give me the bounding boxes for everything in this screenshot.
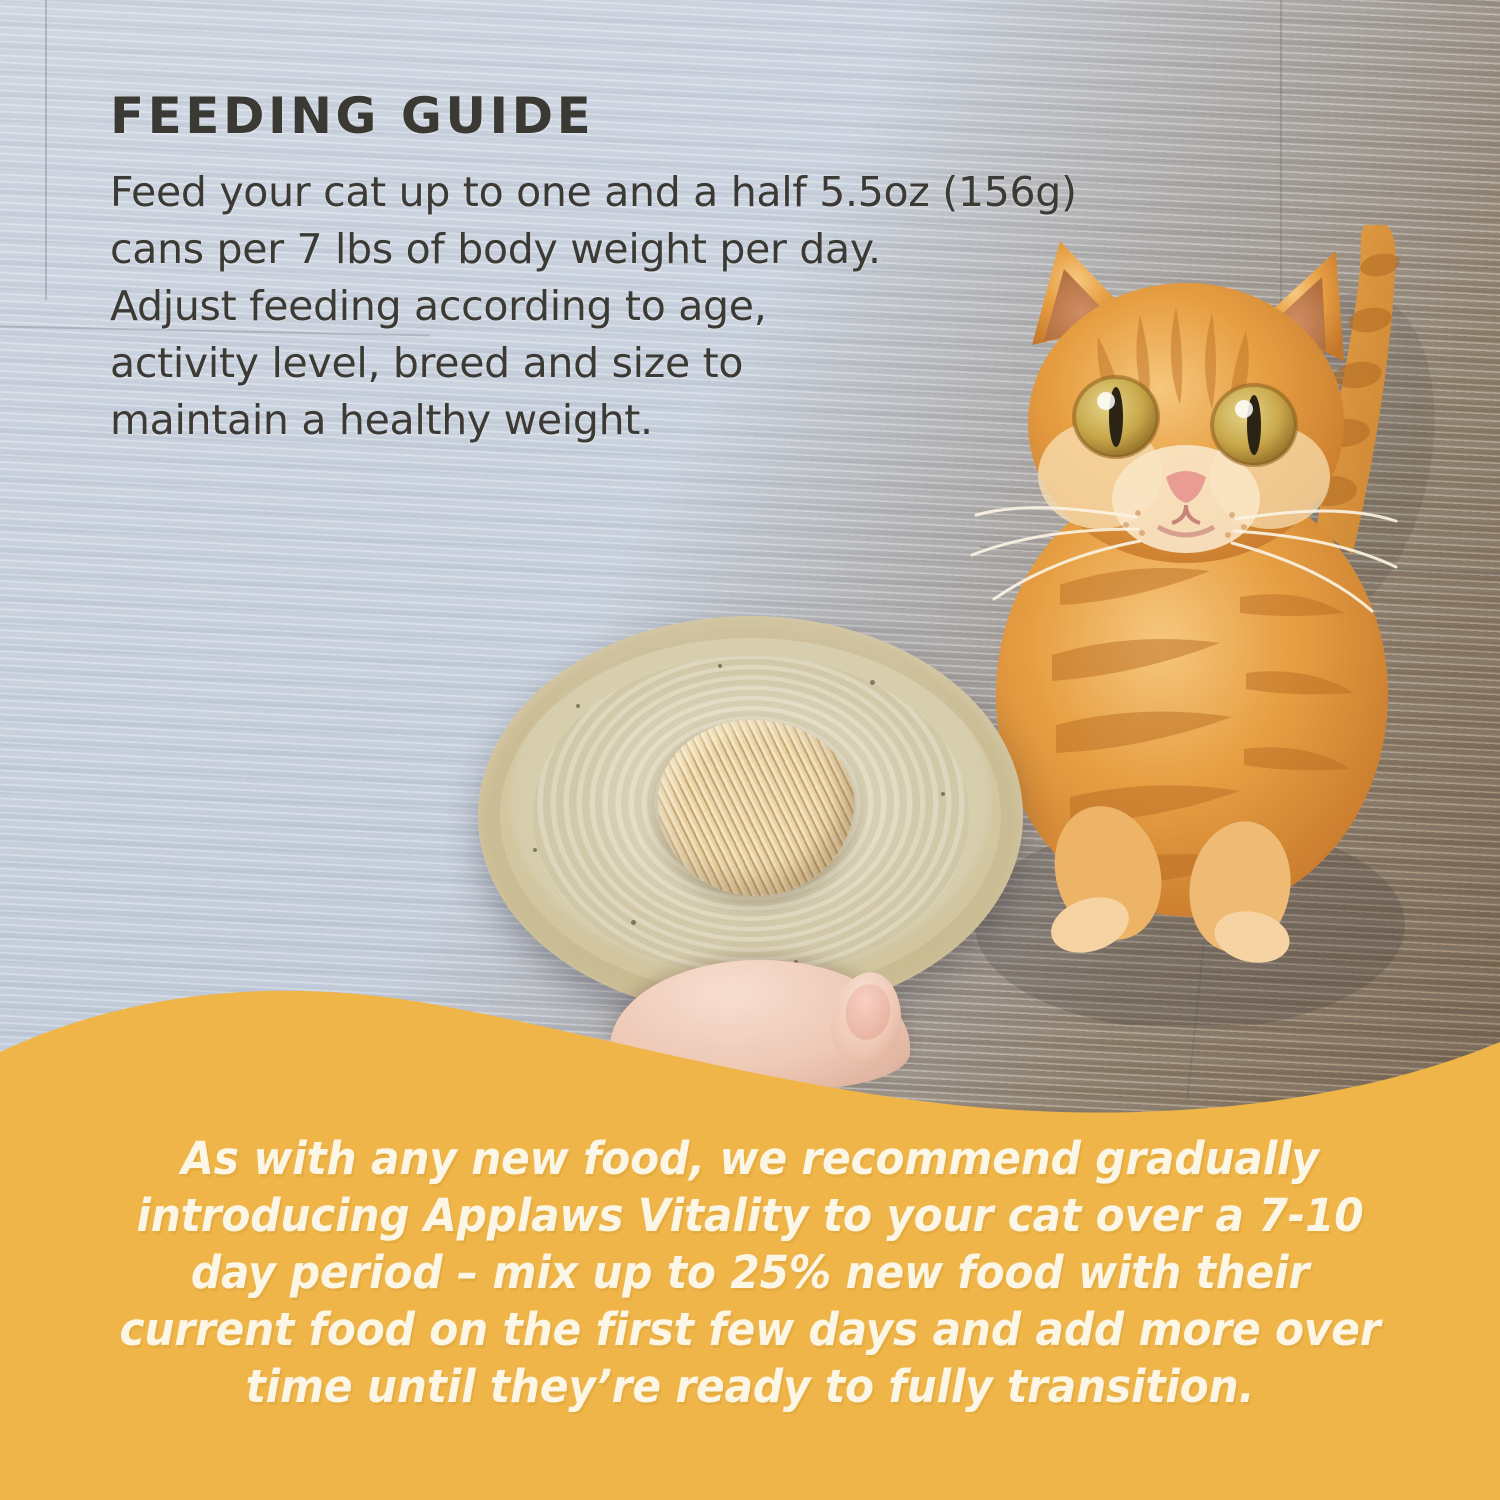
feeding-instructions: Feed your cat up to one and a half 5.5oz… (110, 164, 1290, 449)
page-title: FEEDING GUIDE (110, 88, 1340, 144)
plate-speck (718, 664, 722, 668)
banner-line: time until they’re ready to fully transi… (101, 1358, 1398, 1415)
feeding-guide-panel: FEEDING GUIDE Feed your cat up to one an… (0, 0, 1500, 1500)
body-line: maintain a healthy weight. (110, 392, 1290, 449)
body-line: Feed your cat up to one and a half 5.5oz… (110, 164, 1290, 221)
floor-plank-seam (45, 0, 47, 300)
banner-line: As with any new food, we recommend gradu… (101, 1130, 1398, 1187)
transition-advice-banner: As with any new food, we recommend gradu… (0, 980, 1500, 1500)
banner-line: introducing Applaws Vitality to your cat… (101, 1187, 1398, 1244)
banner-line: day period – mix up to 25% new food with… (101, 1244, 1398, 1301)
transition-advice-text: As with any new food, we recommend gradu… (101, 1130, 1398, 1415)
body-line: activity level, breed and size to (110, 335, 1290, 392)
body-line: Adjust feeding according to age, (110, 278, 1290, 335)
body-line: cans per 7 lbs of body weight per day. (110, 221, 1290, 278)
plate-speck (631, 920, 636, 925)
plate-speck (533, 848, 537, 852)
feeding-guide-copy: FEEDING GUIDE Feed your cat up to one an… (110, 88, 1340, 449)
ceramic-plate (478, 616, 1023, 1016)
banner-line: current food on the first few days and a… (101, 1301, 1398, 1358)
